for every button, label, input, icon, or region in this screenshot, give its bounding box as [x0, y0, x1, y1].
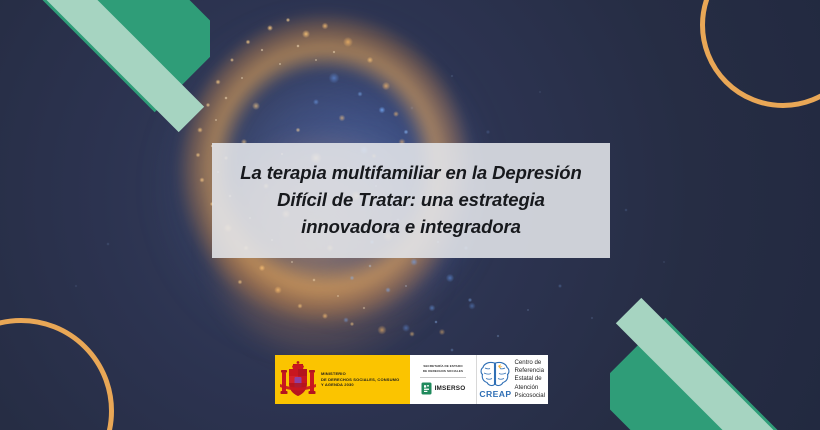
imserso-wordmark: IMSERSO [435, 385, 466, 392]
presentation-slide: La terapia multifamiliar en la Depresión… [0, 0, 820, 430]
imserso-row: IMSERSO [414, 382, 473, 395]
page-title: La terapia multifamiliar en la Depresión… [240, 160, 581, 240]
spain-coat-of-arms-icon [279, 360, 317, 400]
logo-bar: MINISTERIO DE DERECHOS SOCIALES, CONSUMO… [275, 355, 548, 404]
secretaria-line-2: DE DERECHOS SOCIALES [414, 369, 473, 374]
title-line-3: innovadora e integradora [301, 216, 521, 237]
title-line-1: La terapia multifamiliar en la Depresión [240, 162, 581, 183]
creap-desc-line-2: Referencia [515, 367, 545, 375]
secretaria-estado-text: SECRETARÍA DE ESTADO DE DERECHOS SOCIALE… [414, 364, 473, 373]
creap-desc-line-4: Atención [515, 384, 545, 392]
logo-imserso: SECRETARÍA DE ESTADO DE DERECHOS SOCIALE… [410, 355, 478, 404]
logo-creap: CREAP Centro de Referencia Estatal de At… [477, 355, 548, 404]
creap-desc-line-3: Estatal de [515, 375, 545, 383]
creap-description: Centro de Referencia Estatal de Atención… [515, 359, 545, 399]
title-line-2: Difícil de Tratar: una estrategia [277, 189, 545, 210]
ministerio-line-3: Y AGENDA 2030 [321, 382, 399, 388]
creap-left: CREAP [479, 360, 511, 399]
creap-desc-line-1: Centro de [515, 359, 545, 367]
ministerio-text: MINISTERIO DE DERECHOS SOCIALES, CONSUMO… [321, 371, 399, 388]
logo-ministerio: MINISTERIO DE DERECHOS SOCIALES, CONSUMO… [275, 355, 410, 404]
divider-rule [420, 377, 467, 378]
brain-icon [479, 360, 511, 390]
creap-wordmark: CREAP [479, 389, 511, 399]
imserso-emblem-icon [421, 382, 432, 395]
title-panel: La terapia multifamiliar en la Depresión… [212, 143, 610, 258]
creap-desc-line-5: Psicosocial [515, 392, 545, 400]
